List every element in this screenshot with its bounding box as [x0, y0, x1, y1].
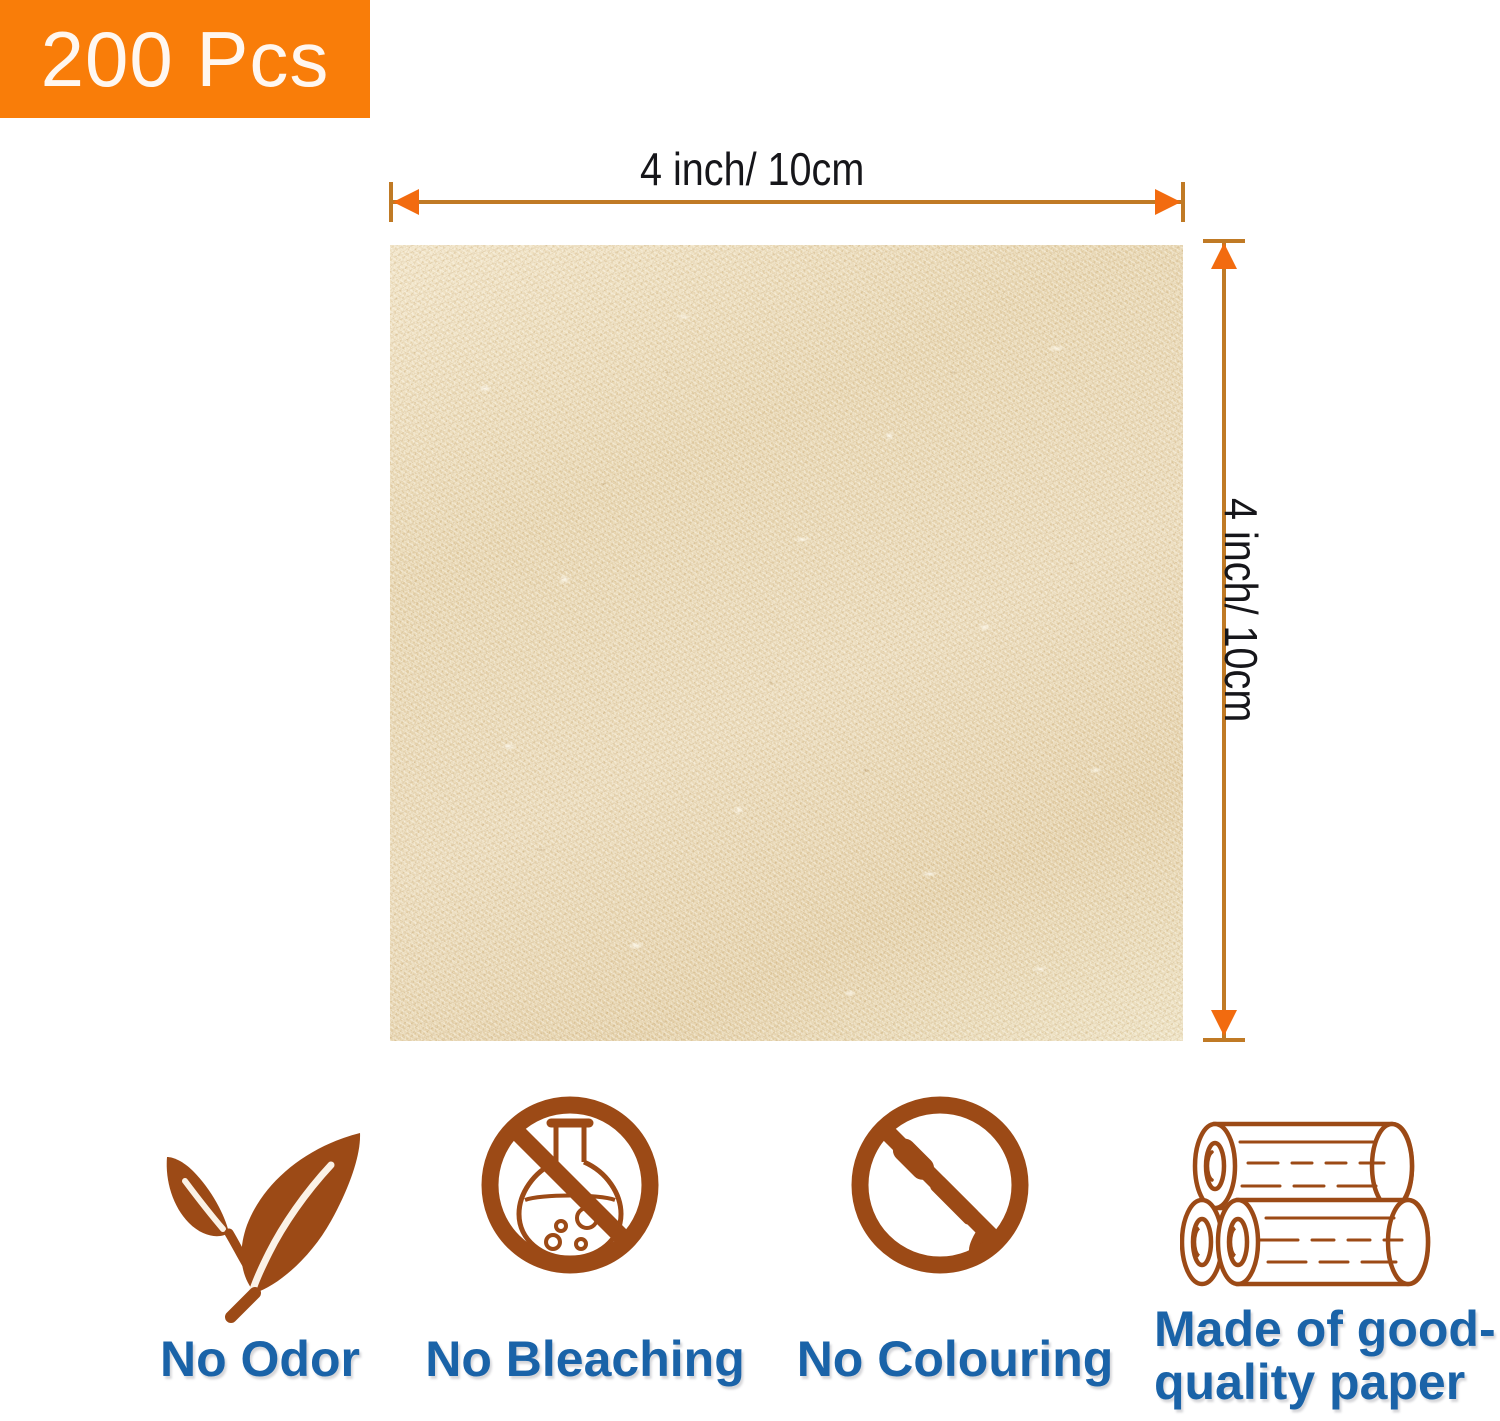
quantity-badge-label: 200 Pcs — [41, 20, 330, 98]
height-dim-arrow-top — [1211, 243, 1237, 269]
paper-sample-swatch — [390, 245, 1183, 1041]
feature-good-paper: Made of good- quality paper — [1140, 1085, 1500, 1421]
wood-logs-icon — [1180, 1100, 1445, 1300]
no-colouring-icon — [845, 1090, 1035, 1285]
width-dim-line — [391, 200, 1183, 204]
feature-caption-good-paper: Made of good- quality paper — [1140, 1303, 1500, 1409]
quantity-badge: 200 Pcs — [0, 0, 370, 118]
feature-no-bleaching: No Bleaching — [400, 1085, 770, 1421]
feature-row: No Odor — [0, 1085, 1500, 1421]
no-bleaching-icon — [475, 1090, 665, 1285]
height-dim-arrow-bottom — [1211, 1010, 1237, 1036]
height-dimension-label: 4 inch/ 10cm — [1214, 498, 1268, 722]
leaf-icon — [155, 1125, 370, 1330]
feature-caption-no-bleaching: No Bleaching — [400, 1333, 770, 1386]
product-infographic: 200 Pcs 4 inch/ 10cm 4 inch/ 10cm — [0, 0, 1500, 1421]
feature-caption-no-colouring: No Colouring — [770, 1333, 1140, 1386]
feature-no-colouring: No Colouring — [770, 1085, 1140, 1421]
paper-grain-overlay — [390, 245, 1183, 1041]
width-dim-arrow-right — [1155, 189, 1181, 215]
width-dimension-label: 4 inch/ 10cm — [640, 142, 864, 196]
width-dim-arrow-left — [393, 189, 419, 215]
